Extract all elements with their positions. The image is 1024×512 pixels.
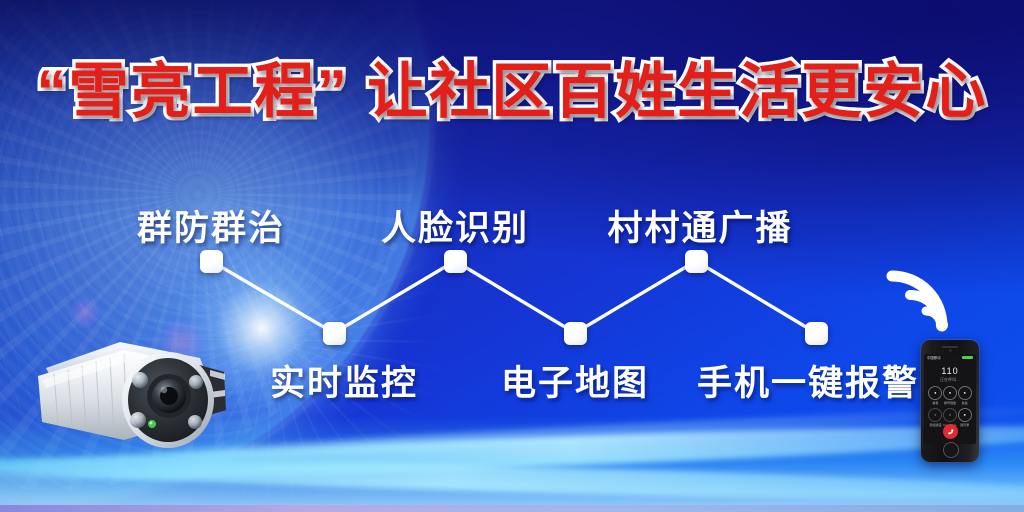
poster-canvas: “雪亮工程” 让社区百姓生活更安心 “雪亮工程” 让社区百姓生活更安心 群防群治… xyxy=(0,0,1024,512)
wifi-icon xyxy=(884,268,954,334)
call-key-1[interactable]: ●静音 xyxy=(928,386,943,405)
call-keypad[interactable]: ●静音●拨号键盘●免提●添加通话●FaceTime●通讯录 xyxy=(928,386,972,427)
diagram-label-2: 实时监控 xyxy=(270,355,418,406)
call-key-label-6: 通讯录 xyxy=(960,423,969,427)
call-key-icon-2: ● xyxy=(943,386,957,400)
phone-hangup-icon xyxy=(946,427,955,436)
diagram-label-4: 电子地图 xyxy=(501,355,649,406)
carrier-label: 中国移动 xyxy=(927,355,941,360)
phone-status-bar: 中国移动 xyxy=(924,355,976,360)
end-call-button[interactable] xyxy=(943,424,958,439)
diagram-label-6: 手机一键报警 xyxy=(697,355,919,406)
diagram-node-3[interactable] xyxy=(444,250,467,273)
dialed-number: 110 xyxy=(924,366,976,376)
phone-front-camera-icon xyxy=(949,349,952,352)
diagram-node-5[interactable] xyxy=(685,250,708,273)
phone-earpiece xyxy=(942,346,958,348)
call-key-6[interactable]: ●通讯录 xyxy=(957,408,972,427)
call-key-icon-4: ● xyxy=(928,408,942,422)
call-status-label: 正在呼叫… xyxy=(924,377,976,383)
call-key-icon-3: ● xyxy=(958,386,972,400)
diagram-label-3: 人脸识别 xyxy=(381,200,529,251)
call-key-3[interactable]: ●免提 xyxy=(957,386,972,405)
diagram-node-2[interactable] xyxy=(323,322,346,345)
diagram-node-1[interactable] xyxy=(200,250,223,273)
call-key-label-2: 拨号键盘 xyxy=(944,401,956,405)
call-key-icon-6: ● xyxy=(958,408,972,422)
smartphone[interactable]: 中国移动 110 正在呼叫… ●静音●拨号键盘●免提●添加通话●FaceTime… xyxy=(921,340,979,462)
cctv-camera xyxy=(28,330,246,458)
phone-screen[interactable]: 中国移动 110 正在呼叫… ●静音●拨号键盘●免提●添加通话●FaceTime… xyxy=(924,354,976,444)
call-key-2[interactable]: ●拨号键盘 xyxy=(943,386,958,405)
call-key-label-3: 免提 xyxy=(962,401,968,405)
diagram-label-1: 群防群治 xyxy=(137,200,285,251)
diagram-node-4[interactable] xyxy=(564,322,587,345)
call-key-4[interactable]: ●添加通话 xyxy=(928,408,943,427)
call-key-label-1: 静音 xyxy=(932,401,938,405)
battery-icon xyxy=(962,356,973,359)
phone-home-button[interactable] xyxy=(943,442,959,458)
call-key-label-4: 添加通话 xyxy=(929,423,941,427)
diagram-node-6[interactable] xyxy=(805,322,828,345)
diagram-label-5: 村村通广播 xyxy=(607,200,792,251)
call-key-icon-5: ● xyxy=(943,408,957,422)
call-key-icon-1: ● xyxy=(928,386,942,400)
